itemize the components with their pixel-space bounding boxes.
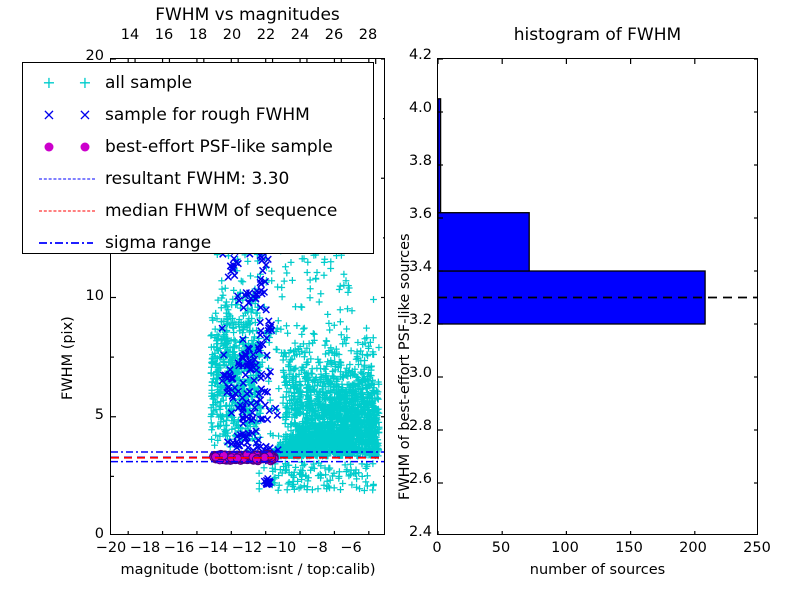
legend-handle-all-sample: + +	[31, 67, 105, 99]
cross-marker-icon: ×	[78, 107, 91, 123]
legend-label: sigma range	[105, 233, 211, 253]
top-tick-label: 22	[252, 27, 280, 43]
x-tick-label: 0	[421, 540, 453, 556]
top-tick-label: 20	[218, 27, 246, 43]
x-tick-label: 100	[549, 540, 581, 556]
x-tick-label: −12	[230, 540, 264, 556]
figure-canvas: FWHM vs magnitudes 14 16 18 20 22 24 26 …	[0, 0, 800, 600]
y-tick-label: 2.6	[398, 471, 432, 487]
legend-items: + + all sample × × sample for rough FWHM…	[23, 63, 373, 259]
top-tick-label: 24	[286, 27, 314, 43]
circle-marker-icon	[81, 143, 90, 152]
x-tick-label: −16	[162, 540, 196, 556]
plus-marker-icon: +	[42, 75, 55, 91]
legend-item-sigma-range[interactable]: sigma range	[31, 227, 373, 259]
x-tick-label: −6	[334, 540, 368, 556]
cross-marker-icon: ×	[42, 107, 55, 123]
x-tick-label: 200	[677, 540, 709, 556]
y-tick-label: 3.0	[398, 365, 432, 381]
y-tick-label: 3.6	[398, 206, 432, 222]
y-tick-label: 4.2	[398, 47, 432, 63]
y-tick-label: 3.4	[398, 259, 432, 275]
y-tick-label: 4.0	[398, 100, 432, 116]
y-tick-label: 3.2	[398, 312, 432, 328]
legend[interactable]: + + all sample × × sample for rough FWHM…	[22, 62, 374, 254]
top-tick-label: 18	[184, 27, 212, 43]
legend-item-median-fwhm[interactable]: median FHWM of sequence	[31, 195, 373, 227]
top-tick-label: 28	[354, 27, 382, 43]
legend-label: median FHWM of sequence	[105, 201, 337, 221]
y-tick-label: 2.4	[398, 524, 432, 540]
x-tick-label: 150	[613, 540, 645, 556]
legend-item-resultant-fwhm[interactable]: resultant FWHM: 3.30	[31, 163, 373, 195]
y-tick-label: 10	[72, 288, 104, 304]
legend-handle-rough-fwhm: × ×	[31, 99, 105, 131]
legend-handle-psf-like	[31, 131, 105, 163]
legend-item-all-sample[interactable]: + + all sample	[31, 67, 373, 99]
histogram-data-layer	[438, 59, 758, 535]
histogram-axes-frame[interactable]	[437, 58, 758, 535]
dashed-line-icon	[39, 211, 95, 212]
x-tick-label: −10	[264, 540, 298, 556]
x-tick-label: 50	[485, 540, 517, 556]
x-tick-label: −8	[300, 540, 334, 556]
legend-label: best-effort PSF-like sample	[105, 137, 333, 157]
x-tick-label: −14	[196, 540, 230, 556]
legend-handle-median-fwhm	[31, 195, 105, 227]
legend-item-rough-fwhm[interactable]: × × sample for rough FWHM	[31, 99, 373, 131]
y-tick-label: 2.8	[398, 418, 432, 434]
histogram-x-axis-label: number of sources	[437, 562, 758, 578]
plus-marker-icon: +	[78, 75, 91, 91]
circle-marker-icon	[45, 143, 54, 152]
legend-label: sample for rough FWHM	[105, 105, 310, 125]
dashdot-line-icon	[37, 233, 101, 253]
legend-label: resultant FWHM: 3.30	[105, 169, 289, 189]
x-tick-label: −20	[94, 540, 128, 556]
scatter-plot-title: FWHM vs magnitudes	[110, 5, 385, 25]
top-tick-label: 26	[320, 27, 348, 43]
top-tick-label: 16	[150, 27, 178, 43]
x-tick-label: 250	[741, 540, 773, 556]
legend-item-psf-like[interactable]: best-effort PSF-like sample	[31, 131, 373, 163]
legend-handle-sigma-range	[31, 227, 105, 259]
dashed-line-icon	[39, 179, 95, 180]
y-tick-label: 5	[72, 407, 104, 423]
y-tick-label: 3.8	[398, 153, 432, 169]
histogram-title: histogram of FWHM	[437, 25, 758, 45]
x-tick-label: −18	[128, 540, 162, 556]
legend-label: all sample	[105, 73, 192, 93]
scatter-x-axis-label: magnitude (bottom:isnt / top:calib)	[98, 562, 398, 578]
top-tick-label: 14	[116, 27, 144, 43]
scatter-y-axis-label: FWHM (pix)	[60, 316, 76, 400]
legend-handle-resultant-fwhm	[31, 163, 105, 195]
